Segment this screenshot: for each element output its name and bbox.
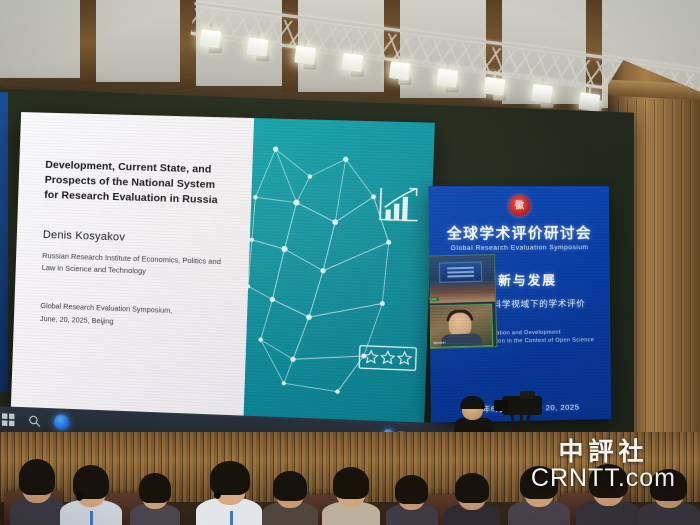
slide-speaker-name: Denis Kosyakov (43, 229, 236, 248)
audience-person (638, 467, 700, 525)
search-icon[interactable] (28, 414, 41, 427)
video-conference-inset: Live Speaker (428, 254, 497, 349)
blue-app-icon[interactable] (54, 414, 69, 430)
audience-person (262, 469, 318, 525)
stage-light (246, 37, 271, 65)
audience-person (508, 465, 570, 525)
windows-start-icon[interactable] (2, 413, 15, 426)
stage-light (340, 53, 365, 81)
headset-icon (76, 492, 83, 501)
video-inset-label: Live (428, 297, 438, 301)
slide-text-panel: Development, Current State, and Prospect… (11, 112, 255, 417)
presentation-slide: Development, Current State, and Prospect… (11, 112, 435, 425)
audience-person (130, 471, 180, 525)
audience-person (444, 473, 500, 525)
audience-person (322, 467, 380, 525)
banner-title-en: Global Research Evaluation Symposium (429, 244, 609, 252)
stage-light (388, 61, 413, 89)
stage-light (482, 77, 507, 105)
slide-affiliation: Russian Research Institute of Economics,… (42, 250, 236, 281)
banner-title-cn: 全球学术评价研讨会 (429, 222, 610, 244)
audience-person (386, 475, 438, 525)
video-inset-name-tag: Speaker (433, 341, 446, 345)
audience-rows (0, 452, 700, 525)
bar-chart-growth-icon (375, 185, 422, 227)
screen-blue-edge (0, 92, 8, 393)
audience-person (576, 463, 640, 525)
audience-person (60, 463, 122, 525)
audience-person (196, 459, 262, 525)
stage-light (198, 29, 223, 57)
conference-photo-scene: Development, Current State, and Prospect… (0, 0, 700, 525)
red-round-emblem: 徽 (509, 195, 531, 216)
conference-banner: 徽 全球学术评价研讨会 Global Research Evaluation S… (428, 186, 611, 423)
slide-title: Development, Current State, and Prospect… (44, 159, 233, 209)
headset-icon (214, 490, 221, 499)
stage-light (435, 68, 460, 96)
stage-light (530, 84, 555, 112)
stage-light (293, 46, 318, 74)
three-stars-rating-icon (358, 345, 417, 372)
audience-person (10, 459, 66, 525)
slide-graphic-panel (244, 118, 435, 425)
